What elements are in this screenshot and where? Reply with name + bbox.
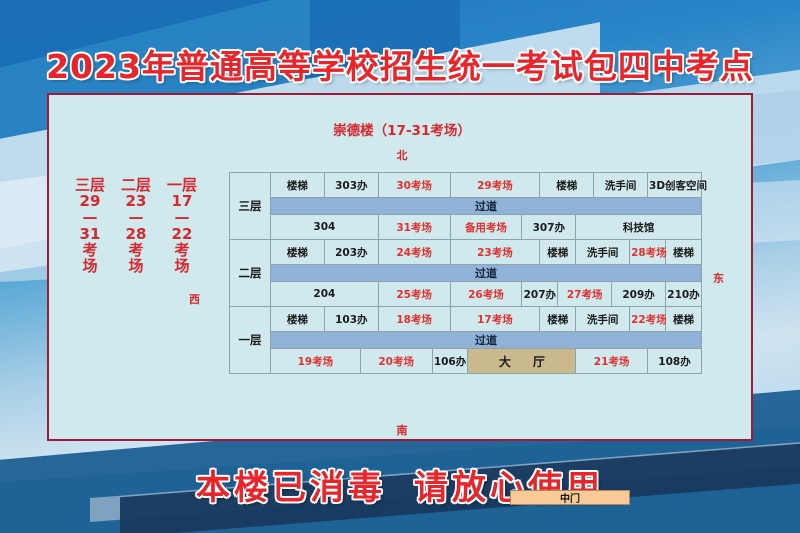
legend-dash: —: [128, 209, 143, 225]
exam-room-cell: 21考场: [576, 349, 648, 374]
legend-range-top: 29: [80, 193, 101, 209]
floor-plan-panel: 崇德楼（17-31考场） 北 南 西 东 一层 17 — 22 考 场 二层 2…: [47, 93, 753, 441]
exam-room-cell: 25考场: [378, 282, 450, 307]
exam-room-cell: 17考场: [450, 307, 540, 332]
room-cell: 204: [271, 282, 379, 307]
exam-room-cell: 24考场: [378, 240, 450, 265]
legend-floor-2: 二层 23 — 28 考 场: [121, 177, 151, 367]
legend-floor-3: 三层 29 — 31 考 场: [75, 177, 105, 367]
exam-room-cell: 19考场: [271, 349, 361, 374]
floor-label-2: 二层: [230, 240, 271, 307]
exam-room-cell: 30考场: [378, 173, 450, 198]
room-cell: 楼梯: [271, 240, 325, 265]
floor-label-3: 三层: [230, 173, 271, 240]
floor-plan-table: 三层楼梯303办30考场29考场楼梯洗手间3D创客空间过道30431考场备用考场…: [229, 172, 702, 374]
direction-east: 东: [713, 270, 724, 286]
legend-range-bottom: 31: [80, 226, 101, 242]
room-cell: 108办: [648, 349, 702, 374]
room-cell: 307办: [522, 215, 576, 240]
legend-dash: —: [174, 209, 189, 225]
legend-floor-label: 三层: [75, 177, 105, 193]
corridor-row: 过道: [271, 198, 702, 215]
exam-room-cell: 20考场: [360, 349, 432, 374]
room-cell: 209办: [612, 282, 666, 307]
room-cell: 103办: [324, 307, 378, 332]
room-cell: 楼梯: [665, 240, 701, 265]
floor-label-1: 一层: [230, 307, 271, 374]
corridor-row: 过道: [271, 332, 702, 349]
room-cell: 洗手间: [576, 307, 630, 332]
room-cell: 楼梯: [665, 307, 701, 332]
slogan-part-1: 本楼已消毒: [196, 468, 386, 508]
exam-room-cell: 26考场: [450, 282, 522, 307]
legend-suffix-a: 考: [174, 242, 189, 258]
legend-suffix-a: 考: [128, 242, 143, 258]
legend-suffix-b: 场: [174, 258, 189, 274]
floor-legend: 一层 17 — 22 考 场 二层 23 — 28 考 场 三层 2: [73, 177, 197, 367]
room-cell: 303办: [324, 173, 378, 198]
legend-dash: —: [82, 209, 97, 225]
exam-room-cell: 27考场: [558, 282, 612, 307]
room-cell: 203办: [324, 240, 378, 265]
exam-room-cell: 备用考场: [450, 215, 522, 240]
room-cell: 楼梯: [271, 307, 325, 332]
room-cell: 楼梯: [540, 307, 576, 332]
room-cell: 洗手间: [576, 240, 630, 265]
middle-gate: 中门: [510, 490, 630, 505]
legend-range-bottom: 22: [172, 226, 193, 242]
room-cell: 洗手间: [594, 173, 648, 198]
exam-room-cell: 31考场: [378, 215, 450, 240]
room-cell: 楼梯: [540, 173, 594, 198]
building-title: 崇德楼（17-31考场）: [49, 119, 755, 139]
legend-suffix-a: 考: [82, 242, 97, 258]
poster-canvas: 2023年普通高等学校招生统一考试包四中考点 崇德楼（17-31考场） 北 南 …: [0, 0, 800, 533]
legend-floor-1: 一层 17 — 22 考 场: [167, 177, 197, 367]
legend-suffix-b: 场: [128, 258, 143, 274]
room-cell: 106办: [432, 349, 468, 374]
room-cell: 科技馆: [576, 215, 702, 240]
legend-range-top: 23: [126, 193, 147, 209]
disinfection-slogan: 本楼已消毒请放心使用: [0, 460, 800, 509]
room-cell: 210办: [665, 282, 701, 307]
exam-room-cell: 18考场: [378, 307, 450, 332]
exam-room-cell: 23考场: [450, 240, 540, 265]
hall-cell: 大厅: [468, 349, 576, 374]
room-cell: 3D创客空间: [648, 173, 702, 198]
legend-range-bottom: 28: [126, 226, 147, 242]
direction-south: 南: [49, 422, 755, 438]
exam-room-cell: 29考场: [450, 173, 540, 198]
room-cell: 楼梯: [540, 240, 576, 265]
legend-floor-label: 二层: [121, 177, 151, 193]
exam-room-cell: 22考场: [630, 307, 666, 332]
direction-north: 北: [49, 147, 755, 163]
legend-floor-label: 一层: [167, 177, 197, 193]
corridor-row: 过道: [271, 265, 702, 282]
legend-suffix-b: 场: [82, 258, 97, 274]
room-cell: 304: [271, 215, 379, 240]
page-title: 2023年普通高等学校招生统一考试包四中考点: [0, 40, 800, 88]
legend-range-top: 17: [172, 193, 193, 209]
room-cell: 楼梯: [271, 173, 325, 198]
room-cell: 207办: [522, 282, 558, 307]
exam-room-cell: 28考场: [630, 240, 666, 265]
